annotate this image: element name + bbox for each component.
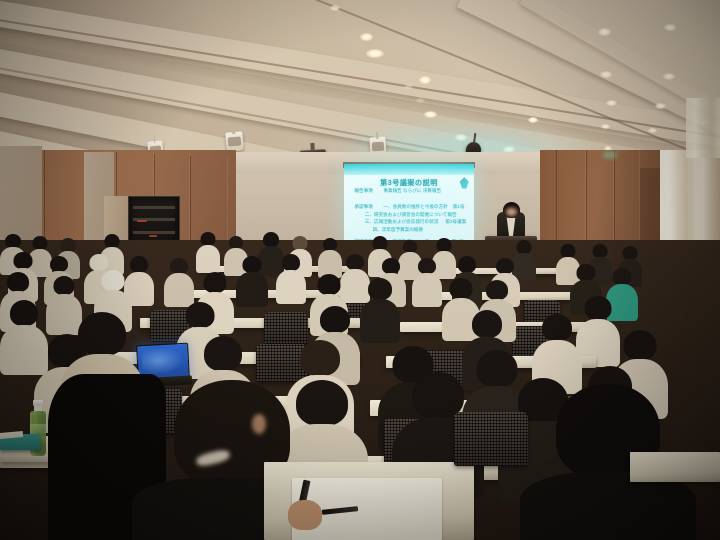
attendee-head: [486, 280, 508, 300]
attendee-head: [542, 314, 572, 341]
attendee-torso: [412, 273, 442, 307]
attendee-head: [14, 252, 33, 269]
rack-indicator-led: [137, 220, 147, 222]
ceiling-speaker: [225, 131, 244, 151]
attendee-head: [450, 278, 473, 299]
slide-subtitle-label: 報告事項: [354, 188, 378, 194]
slide-row-value: 一、会員数の推移と今後の方針: [383, 204, 447, 210]
presenter-head: [503, 202, 520, 218]
slide-row-amount: 第1号: [453, 204, 465, 210]
downlight: [601, 124, 610, 129]
attendee-head: [10, 300, 38, 326]
attendee-head: [50, 256, 68, 272]
attendee-head: [105, 234, 120, 248]
slide-title: 第3号議案の説明: [344, 178, 474, 188]
booklet-page: [0, 431, 23, 439]
slide-row-value: 三、広報活動および会誌発行の状況: [365, 219, 440, 225]
attendee-head: [496, 258, 514, 274]
attendee-head: [90, 254, 109, 271]
attendee: [164, 258, 194, 306]
attendee-head: [293, 236, 308, 250]
downlight: [330, 5, 340, 11]
slide-header-bar: [344, 164, 474, 175]
attendee-head: [458, 256, 476, 273]
downlight: [528, 117, 538, 123]
attendee-head: [263, 232, 279, 247]
attendee: [360, 278, 400, 342]
downlight: [419, 76, 431, 84]
slide-row: 承認事項 一、会員数の推移と今後の方針 第1号: [354, 204, 463, 210]
attendee-head: [472, 310, 502, 338]
attendee-head: [243, 256, 262, 273]
slide-subtitle-value: 事業報告 ならびに 決算報告: [383, 188, 463, 194]
attendee-head: [623, 246, 638, 260]
writing-hand: [288, 500, 322, 530]
attendee-torso: [360, 299, 400, 343]
attendee-head: [346, 254, 364, 270]
slide-row: 二、研究会および講習会の開催について報告: [365, 212, 466, 218]
laptop-screen-glow: [141, 348, 184, 375]
rack-slot: [133, 231, 175, 234]
attendee-head: [5, 234, 21, 248]
attendee: [318, 238, 342, 278]
attendee-head: [320, 306, 350, 333]
speaker-mount: [376, 132, 378, 139]
slide-subtitle: 報告事項 事業報告 ならびに 決算報告: [354, 188, 463, 194]
attendee-head: [282, 254, 300, 271]
downlight: [655, 103, 666, 109]
rack-indicator-led: [149, 235, 157, 237]
downlight: [600, 71, 612, 78]
downlight: [606, 100, 617, 106]
slide-row-amount: 第2号議案: [445, 219, 466, 225]
attendee-head: [585, 296, 612, 320]
attendee-head: [382, 258, 400, 274]
downlight: [366, 49, 384, 58]
teal-booklet[interactable]: [0, 434, 40, 450]
attendee: [196, 232, 220, 272]
downlight: [598, 28, 611, 36]
attendee-head: [186, 302, 215, 328]
attendee-head: [78, 312, 126, 356]
slide-row: 三、広報活動および会誌発行の状況 第2号議案: [365, 219, 466, 225]
attendee-head: [204, 336, 242, 371]
attendee-head: [61, 238, 76, 252]
attendee: [236, 256, 268, 306]
downlight: [648, 128, 657, 133]
attendee-head: [368, 278, 392, 300]
right-curtain-upper: [686, 98, 720, 158]
downlight: [424, 111, 437, 118]
attendee-head: [624, 330, 657, 360]
attendee-torso: [196, 245, 220, 273]
attendee-head: [561, 244, 576, 258]
attendee-head: [33, 236, 48, 250]
attendee-head: [102, 270, 125, 291]
attendee-torso: [520, 472, 696, 540]
attendee-head: [7, 272, 29, 292]
attendee-head: [204, 272, 227, 293]
attendee-head: [373, 236, 388, 250]
attendee-head: [300, 340, 340, 376]
chair: [454, 412, 528, 466]
attendee-torso: [276, 270, 306, 304]
downlight: [360, 33, 373, 41]
attendee: [276, 254, 306, 302]
attendee-head: [170, 258, 188, 274]
attendee-head: [593, 244, 608, 258]
slide-row-value: 四、次年度予算案の概要: [373, 227, 464, 233]
attendee-head: [201, 232, 216, 246]
downlight: [663, 73, 675, 80]
projector-mount: [310, 143, 314, 151]
slide-row: 四、次年度予算案の概要: [373, 227, 464, 233]
attendee-head: [577, 264, 596, 281]
ceiling-vent: [416, 98, 425, 103]
speaker-grille: [372, 142, 385, 152]
speaker-grille: [228, 137, 242, 147]
attendee-head: [517, 240, 532, 254]
attendee-head: [613, 268, 632, 285]
downlight: [664, 24, 676, 31]
attendee-head: [130, 256, 148, 273]
ceiling-vent: [404, 84, 413, 89]
rack-slot: [133, 206, 175, 209]
seminar-room-photo: 第3号議案の説明 報告事項 事業報告 ならびに 決算報告 承認事項 一、会員数の…: [0, 0, 720, 540]
slide-row-value: 二、研究会および講習会の開催について報告: [365, 212, 466, 218]
slide-row-label: 承認事項: [354, 204, 378, 210]
foreground-desk-far-right: [630, 452, 720, 482]
attendee-torso: [236, 272, 268, 307]
attendee: [412, 258, 442, 306]
attendee-head: [54, 276, 75, 295]
attendee-head: [418, 258, 436, 274]
attendee-head: [437, 238, 452, 252]
attendee-head: [318, 274, 341, 295]
